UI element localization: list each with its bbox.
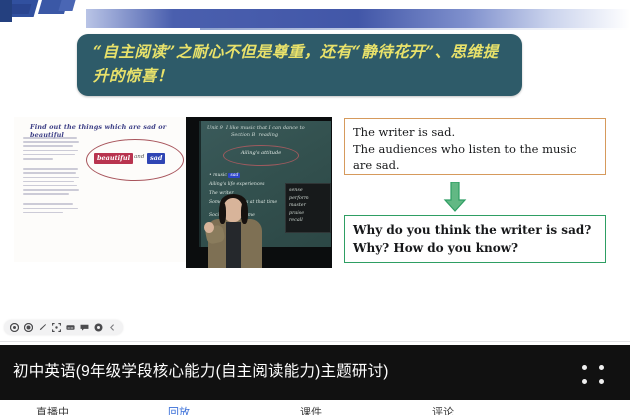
slide-stage[interactable]: “自主阅读”之耐心不但是尊重，还有“静待花开”、思维提升的惊喜！ Find ou…	[0, 0, 630, 345]
worksheet-chip-and: and	[134, 154, 144, 160]
blackboard-bullet-1: • music sad	[209, 173, 305, 179]
blackboard-word-list: sense perform master praise recall	[289, 187, 329, 225]
decoration-gradient-band	[86, 9, 630, 28]
slide-title-text: “自主阅读”之耐心不但是尊重，还有“静待花开”、思维提升的惊喜！	[93, 40, 508, 88]
worksheet-chip-sad: sad	[147, 153, 165, 164]
bottom-tab-item[interactable]: 课件	[300, 404, 322, 415]
statement-line-2: The audiences who listen to the music ar…	[353, 141, 598, 174]
decoration-thin-rule	[200, 28, 630, 30]
chat-icon[interactable]	[80, 323, 89, 332]
blackboard-line-1: Unit 9 I like music that I can dance to	[207, 125, 327, 132]
blackboard-circled-text: Ailing's attitude	[231, 150, 291, 156]
question-textbox: Why do you think the writer is sad? Why?…	[344, 215, 606, 263]
word-list-item: master	[289, 202, 329, 210]
session-header-bar: 初中英语(9年级学段核心能力(自主阅读能力)主题研讨)	[0, 345, 630, 400]
bottom-tab-strip[interactable]: 直播中 回放 课件 评论	[0, 400, 630, 415]
question-line-2: Why? How do you know?	[353, 239, 598, 257]
blackboard-word-list-box: sense perform master praise recall	[285, 183, 331, 233]
bottom-tab-item[interactable]: 评论	[432, 404, 454, 415]
down-arrow-icon	[442, 182, 468, 212]
grid-dot	[582, 365, 587, 370]
player-toolbar[interactable]	[4, 320, 123, 335]
blackboard-highlight-sad: sad	[228, 173, 240, 178]
bottom-tab-item[interactable]: 回放	[168, 404, 190, 415]
grid-dot	[599, 365, 604, 370]
grid-menu-icon[interactable]	[582, 365, 610, 387]
worksheet-page: Find out the things which are sad or bea…	[14, 117, 186, 262]
collapse-icon[interactable]	[108, 323, 117, 332]
subtitle-icon[interactable]	[66, 323, 75, 332]
session-title: 初中英语(9年级学段核心能力(自主阅读能力)主题研讨)	[13, 359, 389, 381]
word-list-item: perform	[289, 195, 329, 203]
blackboard-line-2: Section B reading	[231, 132, 321, 139]
word-list-item: sense	[289, 187, 329, 195]
grid-dot	[599, 379, 604, 384]
teacher-figure	[206, 196, 272, 268]
camera-icon[interactable]	[24, 323, 33, 332]
worksheet-chip-beautiful: beautiful	[94, 153, 133, 164]
word-list-item: praise	[289, 210, 329, 218]
worksheet-text-column	[23, 137, 79, 216]
word-list-item: recall	[289, 217, 329, 225]
slide-title-banner: “自主阅读”之耐心不但是尊重，还有“静待花开”、思维提升的惊喜！	[77, 34, 522, 96]
decoration-block-5	[0, 0, 12, 22]
app-root: “自主阅读”之耐心不但是尊重，还有“静待花开”、思维提升的惊喜！ Find ou…	[0, 0, 630, 415]
settings-icon[interactable]	[94, 323, 103, 332]
blackboard-bullet-1-text: music	[213, 173, 227, 178]
statement-textbox: The writer is sad. The audiences who lis…	[344, 118, 606, 175]
decoration-block-4	[58, 0, 75, 11]
statement-line-1: The writer is sad.	[353, 124, 598, 141]
bottom-tab-item[interactable]: 直播中	[36, 404, 69, 415]
record-icon[interactable]	[10, 323, 19, 332]
pen-icon[interactable]	[38, 323, 47, 332]
stage-separator	[0, 341, 630, 342]
classroom-photo: Unit 9 I like music that I can dance to …	[186, 117, 332, 268]
question-line-1: Why do you think the writer is sad?	[353, 221, 598, 239]
lesson-photo-panel: Find out the things which are sad or bea…	[14, 117, 332, 268]
fullscreen-icon[interactable]	[52, 323, 61, 332]
grid-dot	[582, 379, 587, 384]
